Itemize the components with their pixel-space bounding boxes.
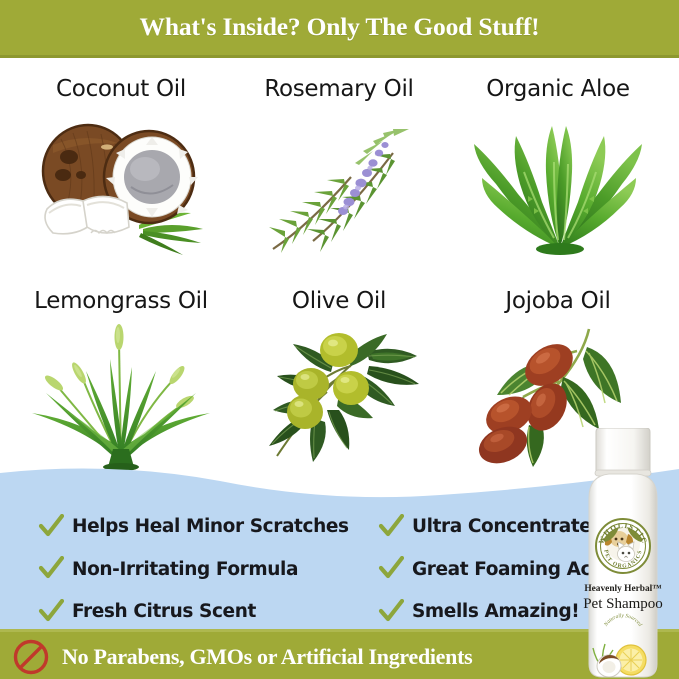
benefits-column-left: Helps Heal Minor Scratches Non-Irritatin… xyxy=(0,510,368,628)
benefit-label: Fresh Citrus Scent xyxy=(72,601,256,622)
ingredient-card-coconut: Coconut Oil xyxy=(8,58,234,264)
check-icon xyxy=(38,514,64,540)
header-banner: What's Inside? Only The Good Stuff! xyxy=(0,0,679,56)
product-subtitle: Heavenly Herbal™ xyxy=(584,584,662,594)
benefit-item: Helps Heal Minor Scratches xyxy=(38,510,368,543)
benefit-label: Non-Irritating Formula xyxy=(72,559,298,580)
benefit-item: Non-Irritating Formula xyxy=(38,553,368,586)
ingredient-label: Lemongrass Oil xyxy=(34,286,208,316)
ingredient-label: Rosemary Oil xyxy=(264,74,413,104)
olive-icon xyxy=(226,316,452,476)
ingredient-label: Jojoba Oil xyxy=(505,286,610,316)
rosemary-icon xyxy=(226,104,452,264)
aloe-icon xyxy=(445,104,671,264)
ingredient-label: Coconut Oil xyxy=(56,74,186,104)
infographic-page: What's Inside? Only The Good Stuff! Coco… xyxy=(0,0,679,679)
product-name: Pet Shampoo xyxy=(583,596,663,612)
no-prohibition-icon xyxy=(12,638,50,676)
coconut-icon xyxy=(8,104,234,264)
benefit-label: Helps Heal Minor Scratches xyxy=(72,516,349,537)
page-title: What's Inside? Only The Good Stuff! xyxy=(140,12,540,42)
ingredient-card-lemongrass: Lemongrass Oil xyxy=(8,270,234,476)
ingredient-card-rosemary: Rosemary Oil xyxy=(226,58,452,264)
ingredient-card-olive: Olive Oil xyxy=(226,270,452,476)
benefit-label: Smells Amazing! xyxy=(412,601,579,622)
check-icon xyxy=(378,514,404,540)
product-bottle: WHOLISTIC PET ORGANICS Heavenly Herbal™ … xyxy=(573,428,673,679)
ingredient-label: Organic Aloe xyxy=(486,74,630,104)
lemongrass-icon xyxy=(8,316,234,476)
check-icon xyxy=(378,556,404,582)
footer-label: No Parabens, GMOs or Artificial Ingredie… xyxy=(62,644,472,670)
check-icon xyxy=(378,599,404,625)
benefit-item: Fresh Citrus Scent xyxy=(38,595,368,628)
ingredient-card-aloe: Organic Aloe xyxy=(445,58,671,264)
ingredient-grid: Coconut Oil xyxy=(0,58,679,470)
check-icon xyxy=(38,599,64,625)
ingredient-label: Olive Oil xyxy=(292,286,386,316)
check-icon xyxy=(38,556,64,582)
